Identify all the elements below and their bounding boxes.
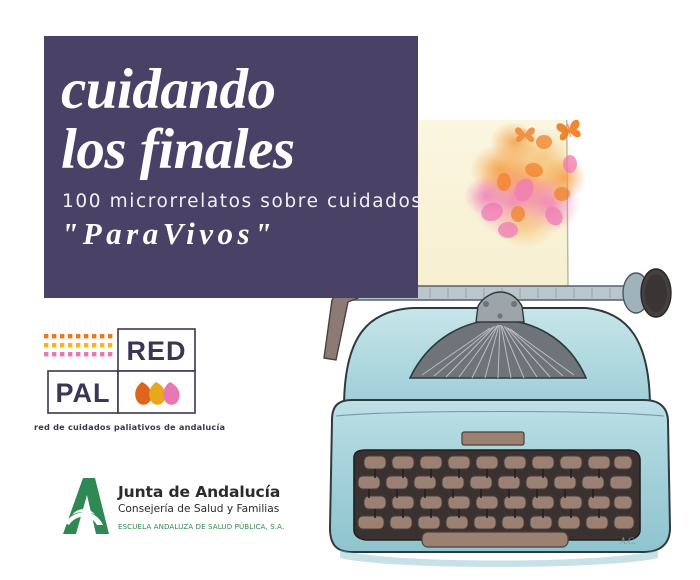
title-panel: cuidando los finales 100 microrrelatos s…	[44, 36, 418, 298]
redpal-tagline: red de cuidados paliativos de andalucía	[34, 422, 225, 432]
redpal-dot-matrix	[44, 334, 112, 356]
junta-text-block: Junta de Andalucía Consejería de Salud y…	[118, 483, 284, 531]
junta-subtitle: Consejería de Salud y Familias	[118, 502, 284, 517]
illustration-signature: A.C.	[619, 536, 636, 546]
junta-de-andalucia-logo: Junta de Andalucía Consejería de Salud y…	[56, 477, 271, 539]
poster-quoted-title: "ParaVivos"	[44, 212, 418, 252]
poster-canvas: A.C. cuidando los finales 100 microrrela…	[0, 0, 700, 580]
poster-subtitle: 100 microrrelatos sobre cuidados	[44, 180, 418, 212]
redpal-logo: RED PAL	[42, 328, 197, 414]
junta-a-mark-icon	[56, 477, 112, 535]
redpal-pal-label: PAL	[56, 378, 111, 408]
redpal-hearts-icon	[135, 382, 179, 405]
junta-organization: ESCUELA ANDALUZA DE SALUD PÚBLICA, S.A.	[118, 522, 284, 531]
junta-title: Junta de Andalucía	[118, 483, 284, 501]
typewriter-body: A.C.	[330, 292, 670, 567]
title-line-2: los finales	[44, 120, 418, 180]
title-line-1: cuidando	[44, 36, 418, 120]
redpal-red-label: RED	[126, 336, 186, 366]
